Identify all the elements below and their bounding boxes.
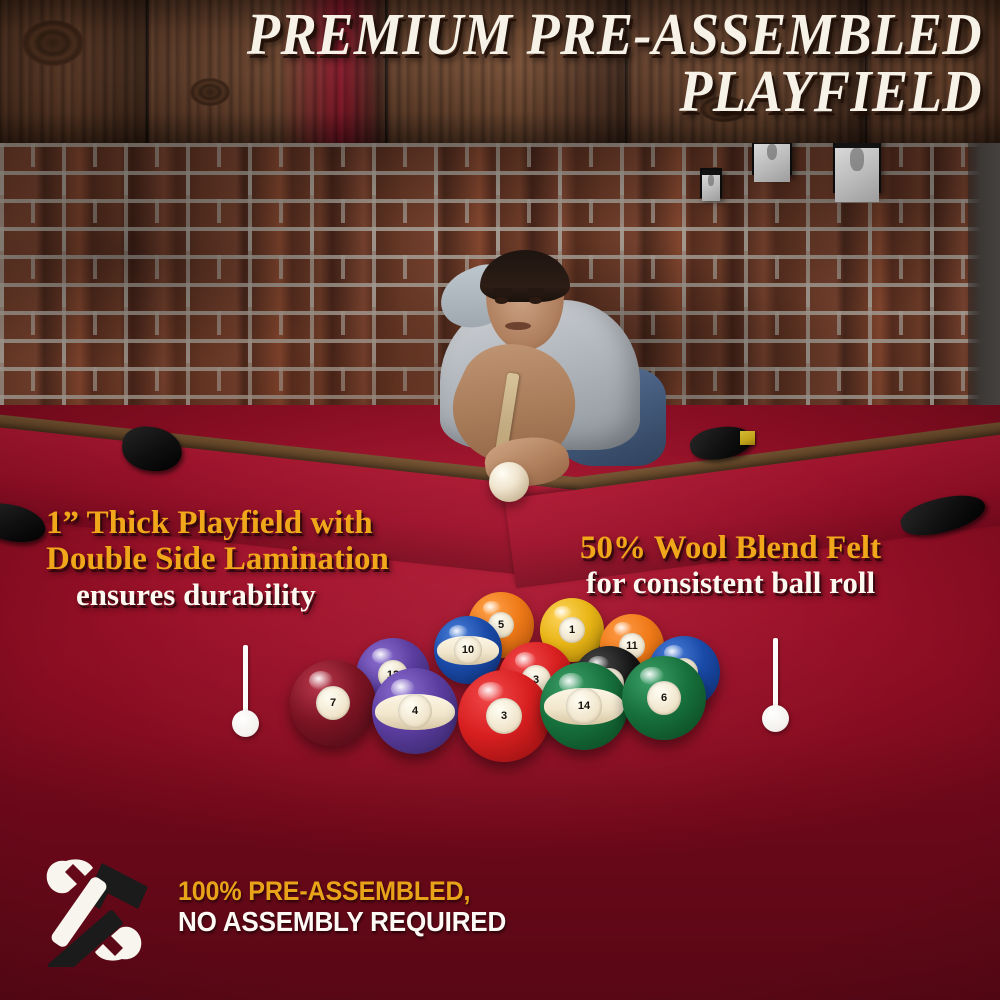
wrench-hammer-icon (30, 855, 158, 967)
callout-felt: 50% Wool Blend Felt for consistent ball … (580, 530, 881, 601)
product-feature-image: PREMIUM PRE-ASSEMBLED PLAYFIELD (0, 0, 1000, 1000)
billiard-ball: 4 (372, 668, 458, 754)
callout-playfield-gold-2: Double Side Lamination (46, 541, 389, 577)
badge-gold-line: 100% PRE-ASSEMBLED, (178, 877, 506, 907)
ball-number: 10 (454, 636, 481, 663)
ball-number: 1 (559, 617, 585, 643)
callout-playfield-white: ensures durability (76, 578, 389, 613)
ball-number: 6 (647, 681, 681, 715)
pre-assembled-badge: 100% PRE-ASSEMBLED, NO ASSEMBLY REQUIRED (30, 855, 550, 970)
ball-number: 3 (486, 698, 523, 735)
billiard-ball: 7 (290, 660, 376, 746)
billiard-ball: 14 (540, 662, 628, 750)
ball-rack: 5 1 10 11 12 3 8 9 7 4 (0, 0, 1000, 1000)
badge-white-line: NO ASSEMBLY REQUIRED (178, 907, 506, 938)
callout-playfield: 1” Thick Playfield with Double Side Lami… (46, 505, 389, 612)
billiard-ball: 6 (622, 656, 706, 740)
callout-felt-white: for consistent ball roll (586, 566, 881, 601)
ball-number: 7 (316, 686, 350, 720)
callout-felt-gold: 50% Wool Blend Felt (580, 530, 881, 566)
badge-text-block: 100% PRE-ASSEMBLED, NO ASSEMBLY REQUIRED (178, 877, 531, 937)
callout-playfield-gold-1: 1” Thick Playfield with (46, 505, 389, 541)
billiard-ball: 3 (458, 670, 550, 762)
callout-pointer-dot-right (762, 705, 789, 732)
callout-pointer-dot-left (232, 710, 259, 737)
ball-number: 14 (566, 688, 601, 723)
